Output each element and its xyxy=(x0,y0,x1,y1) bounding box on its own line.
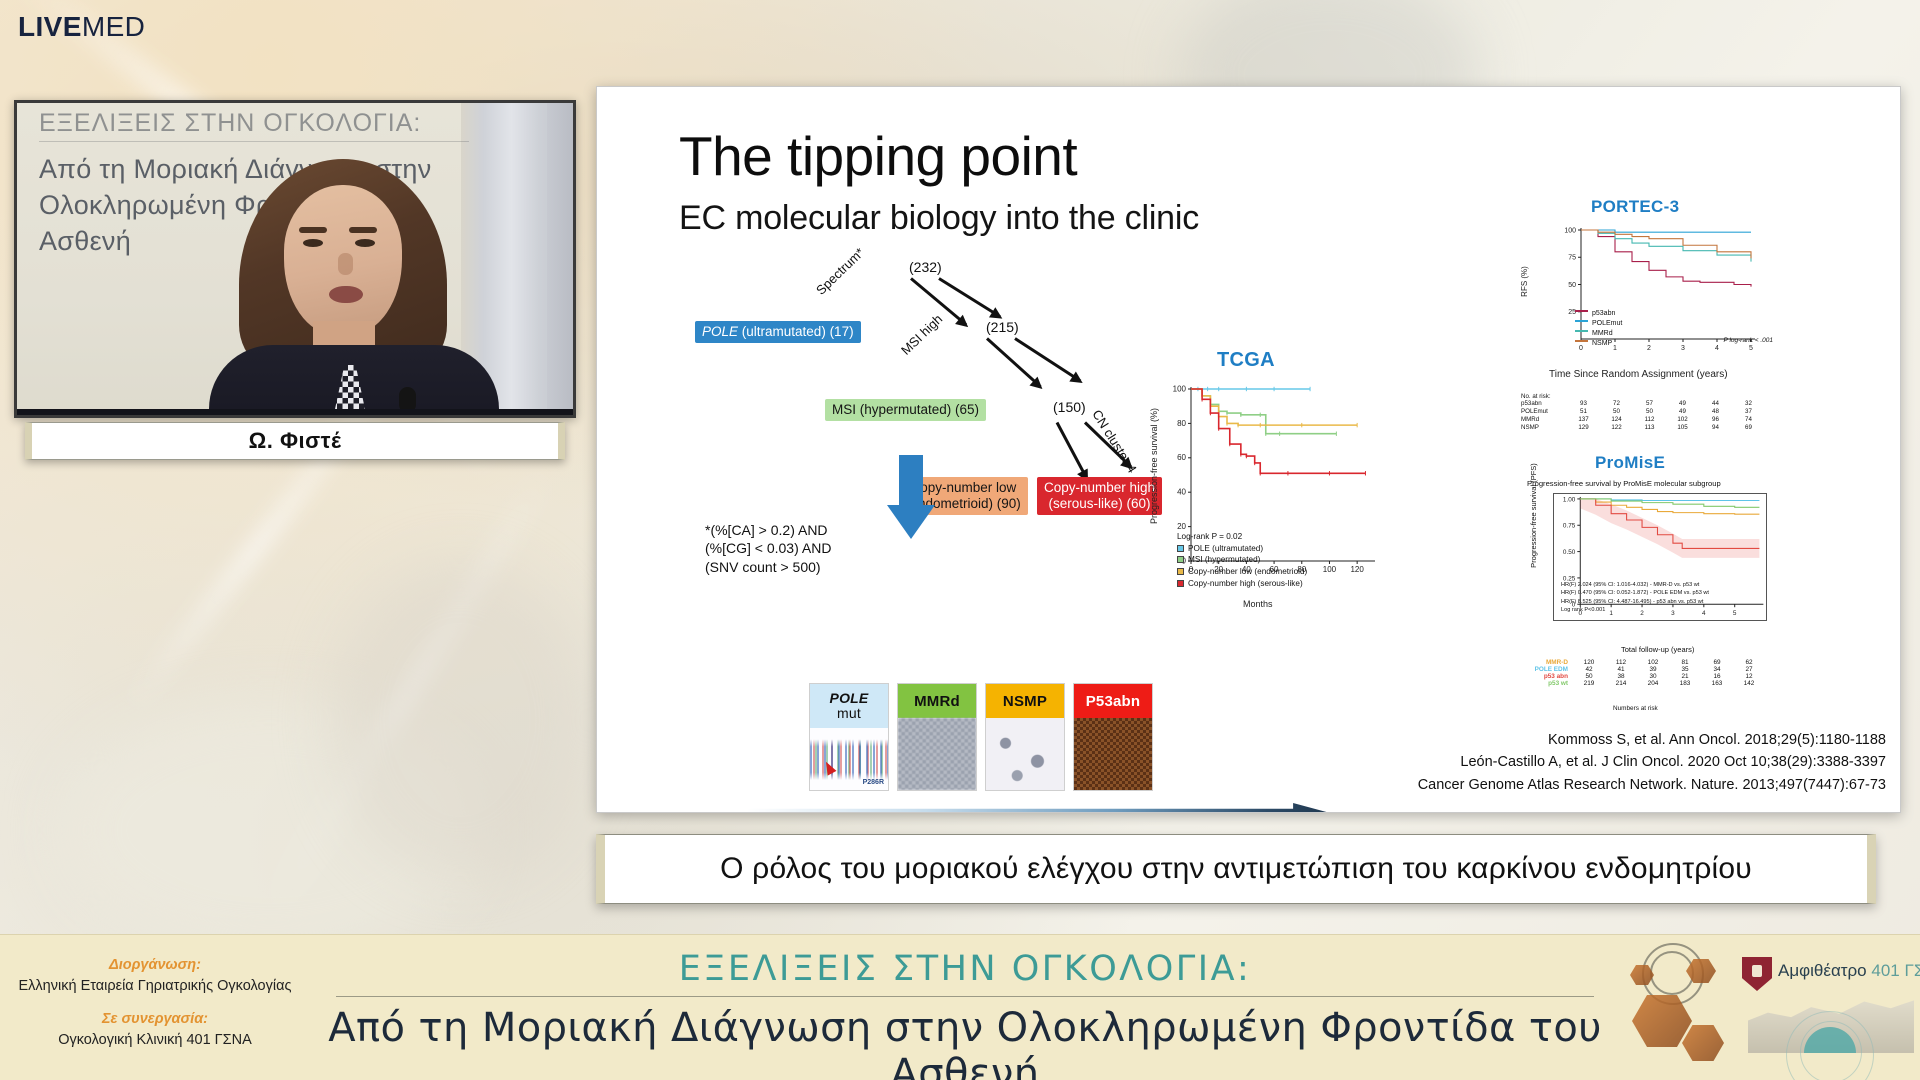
svg-text:5: 5 xyxy=(1749,345,1753,352)
chart-tcga-legend: Log-rank P = 0.02POLE (ultramutated)MSI … xyxy=(1177,531,1307,589)
logo-med-text: MED xyxy=(82,11,145,42)
banner-decorative-art xyxy=(1630,947,1750,1071)
chart-promise: ProMisE Progression-free survival by Pro… xyxy=(1517,453,1779,743)
conference-title-divider xyxy=(336,996,1594,997)
svg-text:20: 20 xyxy=(1177,522,1186,531)
flow-arrow-cn-low xyxy=(1056,422,1089,480)
risk-row: POLEmut515050494837 xyxy=(1521,408,1765,416)
subtype-image-nsmp xyxy=(986,718,1064,790)
conference-title-line1: ΕΞΕΛΙΞΕΙΣ ΣΤΗΝ ΟΓΚΟΛΟΓΙΑ: xyxy=(300,949,1630,989)
presenter-mouth xyxy=(329,286,363,303)
subtype-pole-mut: mut xyxy=(837,706,861,721)
legend-item: POLE (ultramutated) xyxy=(1177,543,1307,555)
subtype-card-mmrd: MMRd xyxy=(897,683,977,791)
legend-item: p53abn xyxy=(1575,309,1622,319)
risk-row: p53 abn503830211612 xyxy=(1519,673,1765,680)
svg-text:100: 100 xyxy=(1564,227,1576,234)
chart-portec3-xlabel: Time Since Random Assignment (years) xyxy=(1549,369,1728,380)
chart-tcga-title: TCGA xyxy=(1217,349,1275,372)
chart-portec3: PORTEC-3 RFS (%) 012345255075100 p53abnP… xyxy=(1517,197,1779,449)
speaker-video-player[interactable]: ΕΞΕΛΙΞΕΙΣ ΣΤΗΝ ΟΓΚΟΛΟΓΙΑ: Από τη Μοριακή… xyxy=(14,100,576,418)
presenter-nose xyxy=(338,253,353,275)
svg-text:50: 50 xyxy=(1568,282,1576,289)
venue-name-secondary: 401 ΓΣΝΑ xyxy=(1871,961,1920,980)
venue-name-primary: Αμφιθέατρο xyxy=(1778,961,1867,980)
slide-subtitle: EC molecular biology into the clinic xyxy=(679,199,1199,238)
talk-title-caption-bar: Ο ρόλος του μοριακού ελέγχου στην αντιμε… xyxy=(596,834,1876,904)
flow-count-215: (215) xyxy=(986,319,1019,335)
chart-portec3-ylabel: RFS (%) xyxy=(1520,266,1529,297)
subtype-label-p53abn: P53abn xyxy=(1074,684,1152,718)
chart-annotation: Log rank P<0.001 xyxy=(1561,606,1709,614)
chart-portec3-legend: p53abnPOLEmutMMRdNSMP xyxy=(1575,309,1622,350)
video-podium xyxy=(17,409,573,415)
risk-table-header: No. at risk: xyxy=(1521,393,1765,400)
cooperation-value: Ογκολογική Κλινική 401 ΓΣΝΑ xyxy=(0,1032,310,1048)
subtype-label-nsmp: NSMP xyxy=(986,684,1064,718)
chart-portec3-risk-table: No. at risk:p53abn937257494432POLEmut515… xyxy=(1521,393,1765,432)
flow-node-pole-rest: (ultramutated) (17) xyxy=(738,324,854,339)
flow-node-msi: MSI (hypermutated) (65) xyxy=(825,399,986,421)
venue-name: Αμφιθέατρο 401 ΓΣΝΑ xyxy=(1778,961,1920,981)
slide-references: Kommoss S, et al. Ann Oncol. 2018;29(5):… xyxy=(1418,729,1886,796)
organizers-block: Διοργάνωση: Ελληνική Εταιρεία Γηριατρική… xyxy=(0,957,310,1048)
venue-block: Αμφιθέατρο 401 ΓΣΝΑ xyxy=(1742,953,1917,1065)
svg-text:100: 100 xyxy=(1173,384,1187,393)
reference-line: León-Castillo A, et al. J Clin Oncol. 20… xyxy=(1418,751,1886,773)
svg-text:75: 75 xyxy=(1568,255,1576,262)
subtype-image-p53abn xyxy=(1074,718,1152,790)
flow-footnote: *(%[CA] > 0.2) AND (%[CG] < 0.03) AND (S… xyxy=(705,521,831,576)
risk-row: MMR-D120112102816962 xyxy=(1519,659,1765,666)
conference-title-block: ΕΞΕΛΙΞΕΙΣ ΣΤΗΝ ΟΓΚΟΛΟΓΙΑ: Από τη Μοριακή… xyxy=(300,949,1630,1080)
chart-annotation: HR(F) 8.525 (95% CI: 4.487-16.495) - p53… xyxy=(1561,598,1709,606)
subtype-label-pole: POLE mut xyxy=(810,684,888,728)
svg-text:1.00: 1.00 xyxy=(1563,496,1576,503)
svg-text:3: 3 xyxy=(1681,345,1685,352)
chart-promise-title: ProMisE xyxy=(1595,453,1665,473)
svg-text:0.75: 0.75 xyxy=(1563,523,1576,530)
reference-line: Kommoss S, et al. Ann Oncol. 2018;29(5):… xyxy=(1418,729,1886,751)
svg-text:80: 80 xyxy=(1177,419,1186,428)
flow-arrow-cn xyxy=(1014,337,1081,382)
subtype-image-pole: P286R xyxy=(810,728,888,790)
chart-tcga-xlabel: Months xyxy=(1243,599,1273,609)
video-wall-edge xyxy=(547,103,573,415)
flow-label-spectrum: Spectrum* xyxy=(813,245,867,298)
conference-banner: Διοργάνωση: Ελληνική Εταιρεία Γηριατρική… xyxy=(0,934,1920,1080)
risk-row: p53abn937257494432 xyxy=(1521,400,1765,408)
risk-row: MMRd1371241121029674 xyxy=(1521,416,1765,424)
cooperation-header: Σε συνεργασία: xyxy=(0,1011,310,1027)
svg-text:0.50: 0.50 xyxy=(1563,549,1576,556)
flow-arrow-msi xyxy=(986,337,1042,387)
chart-promise-subtitle: Progression-free survival by ProMisE mol… xyxy=(1527,479,1721,488)
flow-node-pole: POLE (ultramutated) (17) xyxy=(695,321,861,343)
livemed-logo[interactable]: LIVEMED xyxy=(18,11,145,43)
risk-row: p53 wt219214204183163142 xyxy=(1519,680,1765,687)
svg-text:4: 4 xyxy=(1715,345,1719,352)
presentation-slide[interactable]: The tipping point EC molecular biology i… xyxy=(596,86,1901,813)
chart-portec3-pvalue: P log-rank < .001 xyxy=(1724,337,1773,344)
risk-row: NSMP1291221131059469 xyxy=(1521,424,1765,432)
svg-text:100: 100 xyxy=(1323,565,1337,574)
svg-text:120: 120 xyxy=(1350,565,1364,574)
svg-text:2: 2 xyxy=(1647,345,1651,352)
chart-promise-risk-note: Numbers at risk xyxy=(1613,705,1658,712)
subtype-card-p53abn: P53abn xyxy=(1073,683,1153,791)
mutation-label-p286r: P286R xyxy=(863,779,884,786)
subtype-image-mmrd xyxy=(898,718,976,790)
chart-promise-annotations: HR(F) 2.024 (95% CI: 1.016-4.032) - MMR-… xyxy=(1561,581,1709,615)
flow-node-pole-gene: POLE xyxy=(702,324,738,339)
legend-item: MSI (hypermutated) xyxy=(1177,554,1307,566)
svg-text:5: 5 xyxy=(1733,610,1737,617)
speaker-name-label: Ω. Φιστέ xyxy=(249,428,342,454)
conference-title-line2: Από τη Μοριακή Διάγνωση στην Ολοκληρωμέν… xyxy=(300,1005,1630,1080)
down-arrow-icon xyxy=(887,455,935,539)
subtype-label-mmrd: MMRd xyxy=(898,684,976,718)
subtype-card-pole: POLE mut P286R xyxy=(809,683,889,791)
chart-promise-ylabel: Progression-free survival (PFS) xyxy=(1529,463,1538,568)
subtype-card-nsmp: NSMP xyxy=(985,683,1065,791)
svg-text:60: 60 xyxy=(1177,453,1186,462)
talk-title-text: Ο ρόλος του μοριακού ελέγχου στην αντιμε… xyxy=(720,852,1752,886)
organizer-header: Διοργάνωση: xyxy=(0,957,310,973)
backdrop-title: ΕΞΕΛΙΞΕΙΣ ΣΤΗΝ ΟΓΚΟΛΟΓΙΑ: xyxy=(39,109,469,142)
speaker-name-plate: Ω. Φιστέ xyxy=(25,422,565,460)
legend-item: MMRd xyxy=(1575,329,1622,339)
organizer-value: Ελληνική Εταιρεία Γηριατρικής Ογκολογίας xyxy=(0,978,310,994)
chart-promise-xlabel: Total follow-up (years) xyxy=(1621,645,1694,654)
chart-annotation: HR(F) 2.024 (95% CI: 1.016-4.032) - MMR-… xyxy=(1561,581,1709,589)
flow-count-150: (150) xyxy=(1053,399,1086,415)
subtype-pole-gene: POLE xyxy=(830,691,869,706)
legend-item: POLEmut xyxy=(1575,319,1622,329)
chart-portec3-title: PORTEC-3 xyxy=(1591,197,1679,217)
chart-promise-risk-table: MMR-D120112102816962POLE EDM424139353427… xyxy=(1519,659,1765,687)
chart-tcga-ylabel: Progression-free survival (%) xyxy=(1149,391,1159,541)
slide-title: The tipping point xyxy=(679,129,1077,184)
risk-row: POLE EDM424139353427 xyxy=(1519,666,1765,673)
legend-item: Copy-number high (serous-like) xyxy=(1177,578,1307,590)
logo-live-text: LIVE xyxy=(18,11,82,42)
chart-tcga-pvalue: Log-rank P = 0.02 xyxy=(1177,531,1307,543)
flow-root-count: (232) xyxy=(909,259,942,275)
svg-text:40: 40 xyxy=(1177,488,1186,497)
molecular-subtype-strip: POLE mut P286R MMRd NSMP P53abn xyxy=(809,683,1153,791)
flow-label-msi-high: MSI high xyxy=(898,311,945,357)
prognosis-gradient-arrow: Best prognosis Worst prognosis xyxy=(747,803,1382,813)
reference-line: Cancer Genome Atlas Research Network. Na… xyxy=(1418,774,1886,796)
legend-item: Copy-number low (endometrioid) xyxy=(1177,566,1307,578)
chart-annotation: HR(F) 0.470 (95% CI: 0.052-1.872) - POLE… xyxy=(1561,589,1709,597)
legend-item: NSMP xyxy=(1575,339,1622,349)
venue-shield-icon xyxy=(1742,957,1772,991)
presenter-figure xyxy=(203,149,503,418)
chart-tcga: TCGA Progression-free survival (%) 02040… xyxy=(1131,349,1391,649)
